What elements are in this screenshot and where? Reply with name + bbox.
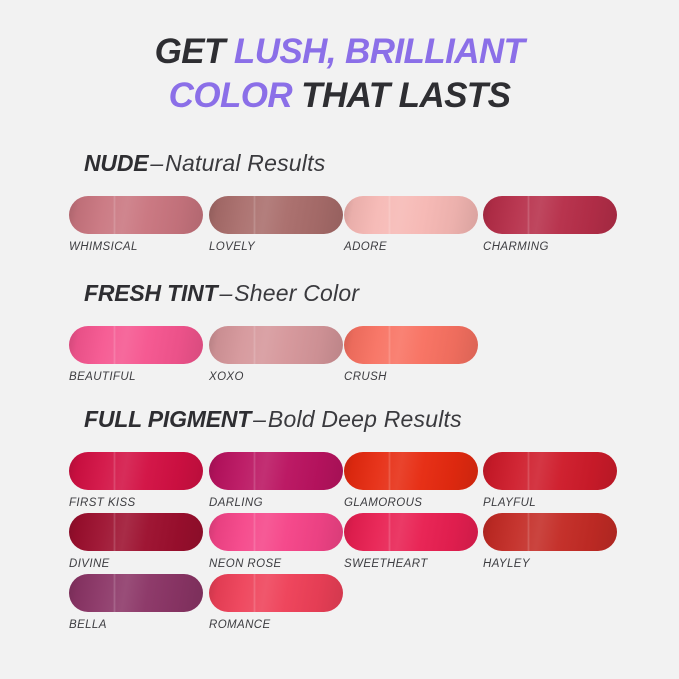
section-name: FULL PIGMENT <box>84 406 251 432</box>
swatch-cell-crush[interactable]: CRUSH <box>344 326 478 383</box>
section-title-full-pigment: FULL PIGMENT–Bold Deep Results <box>84 408 679 431</box>
swatch-label-neon-rose: NEON ROSE <box>209 558 343 570</box>
swatch-cell-glamorous[interactable]: GLAMOROUS <box>344 452 478 509</box>
swatch-label-glamorous: GLAMOROUS <box>344 497 478 509</box>
swatch-label-romance: ROMANCE <box>209 619 343 631</box>
swatch-darling[interactable] <box>209 452 343 490</box>
swatch-label-lovely: LOVELY <box>209 241 343 253</box>
headline-word-color: COLOR <box>169 76 302 115</box>
swatch-adore[interactable] <box>344 196 478 234</box>
swatch-label-bella: BELLA <box>69 619 203 631</box>
swatch-cell-playful[interactable]: PLAYFUL <box>483 452 617 509</box>
section-dash: – <box>148 150 165 176</box>
headline-word-that-lasts: THAT LASTS <box>301 76 510 115</box>
swatch-cell-divine[interactable]: DIVINE <box>69 513 203 570</box>
section-subtitle: Bold Deep Results <box>268 406 462 432</box>
swatch-label-first-kiss: FIRST KISS <box>69 497 203 509</box>
swatch-label-divine: DIVINE <box>69 558 203 570</box>
swatch-label-crush: CRUSH <box>344 371 478 383</box>
swatch-first-kiss[interactable] <box>69 452 203 490</box>
headline-line-1: GET LUSH, BRILLIANT <box>0 30 679 74</box>
swatch-romance[interactable] <box>209 574 343 612</box>
swatch-label-xoxo: XOXO <box>209 371 343 383</box>
page-title: GET LUSH, BRILLIANT COLOR THAT LASTS <box>0 30 679 119</box>
section-nude: NUDE–Natural Results <box>0 152 679 175</box>
swatch-cell-beautiful[interactable]: BEAUTIFUL <box>69 326 203 383</box>
section-subtitle: Natural Results <box>165 150 325 176</box>
swatch-playful[interactable] <box>483 452 617 490</box>
swatch-cell-adore[interactable]: ADORE <box>344 196 478 253</box>
swatch-xoxo[interactable] <box>209 326 343 364</box>
section-fresh-tint: FRESH TINT–Sheer Color <box>0 282 679 305</box>
section-title-fresh-tint: FRESH TINT–Sheer Color <box>84 282 679 305</box>
headline-word-lush-brilliant: LUSH, BRILLIANT <box>234 32 524 71</box>
section-dash: – <box>217 280 234 306</box>
swatch-cell-whimsical[interactable]: WHIMSICAL <box>69 196 203 253</box>
swatch-label-hayley: HAYLEY <box>483 558 617 570</box>
swatch-row-full-pigment-1: FIRST KISS DARLING GLAMOROUS PLAYFUL <box>69 452 629 512</box>
section-subtitle: Sheer Color <box>234 280 359 306</box>
swatch-row-full-pigment-3: BELLA ROMANCE <box>69 574 629 634</box>
swatch-label-playful: PLAYFUL <box>483 497 617 509</box>
swatch-label-whimsical: WHIMSICAL <box>69 241 203 253</box>
section-title-nude: NUDE–Natural Results <box>84 152 679 175</box>
swatch-cell-neon-rose[interactable]: NEON ROSE <box>209 513 343 570</box>
swatch-cell-lovely[interactable]: LOVELY <box>209 196 343 253</box>
swatch-sweetheart[interactable] <box>344 513 478 551</box>
swatch-hayley[interactable] <box>483 513 617 551</box>
headline-word-get: GET <box>155 32 234 71</box>
section-full-pigment: FULL PIGMENT–Bold Deep Results <box>0 408 679 431</box>
swatch-label-adore: ADORE <box>344 241 478 253</box>
swatch-divine[interactable] <box>69 513 203 551</box>
swatch-lovely[interactable] <box>209 196 343 234</box>
section-name: FRESH TINT <box>84 280 217 306</box>
section-dash: – <box>251 406 268 432</box>
swatch-row-nude-1: WHIMSICAL LOVELY ADORE CHARMING <box>69 196 629 256</box>
swatch-label-charming: CHARMING <box>483 241 617 253</box>
swatch-whimsical[interactable] <box>69 196 203 234</box>
swatch-row-fresh-tint-1: BEAUTIFUL XOXO CRUSH <box>69 326 629 386</box>
swatch-bella[interactable] <box>69 574 203 612</box>
swatch-label-beautiful: BEAUTIFUL <box>69 371 203 383</box>
swatch-label-darling: DARLING <box>209 497 343 509</box>
swatch-cell-hayley[interactable]: HAYLEY <box>483 513 617 570</box>
swatch-cell-bella[interactable]: BELLA <box>69 574 203 631</box>
swatch-beautiful[interactable] <box>69 326 203 364</box>
section-name: NUDE <box>84 150 148 176</box>
swatch-cell-darling[interactable]: DARLING <box>209 452 343 509</box>
swatch-cell-xoxo[interactable]: XOXO <box>209 326 343 383</box>
swatch-glamorous[interactable] <box>344 452 478 490</box>
swatch-label-sweetheart: SWEETHEART <box>344 558 478 570</box>
swatch-cell-charming[interactable]: CHARMING <box>483 196 617 253</box>
swatch-charming[interactable] <box>483 196 617 234</box>
swatch-neon-rose[interactable] <box>209 513 343 551</box>
swatch-crush[interactable] <box>344 326 478 364</box>
swatch-cell-romance[interactable]: ROMANCE <box>209 574 343 631</box>
product-shade-chart: GET LUSH, BRILLIANT COLOR THAT LASTS NUD… <box>0 0 679 679</box>
swatch-row-full-pigment-2: DIVINE NEON ROSE SWEETHEART HAYLEY <box>69 513 629 573</box>
headline-line-2: COLOR THAT LASTS <box>0 74 679 118</box>
swatch-cell-first-kiss[interactable]: FIRST KISS <box>69 452 203 509</box>
swatch-cell-sweetheart[interactable]: SWEETHEART <box>344 513 478 570</box>
